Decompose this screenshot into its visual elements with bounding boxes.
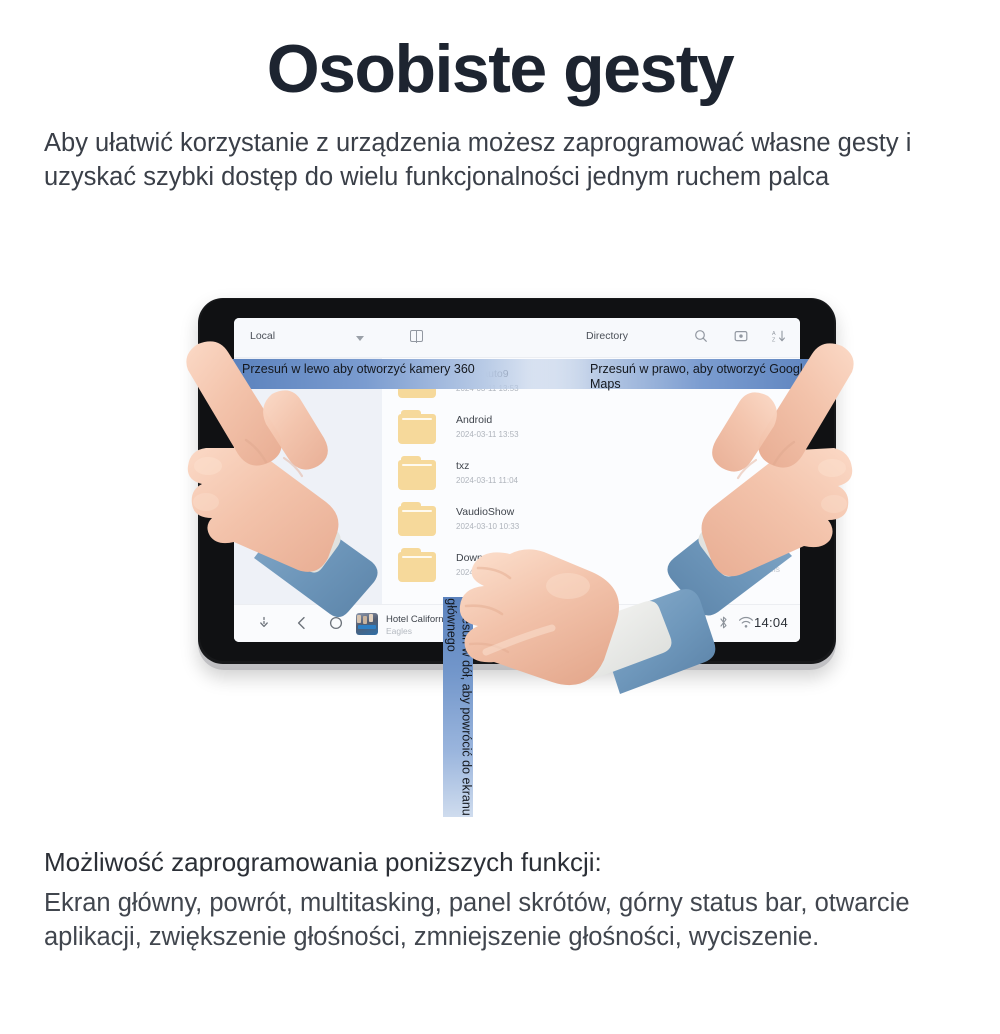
track-artist: Eagles [386,626,412,636]
hand-pointing-left [176,330,386,620]
hand-pointing-down [448,524,718,724]
file-date: 2024-03-11 13:53 [456,430,519,439]
directory-label: Directory [586,330,628,342]
file-name: txz [456,460,469,472]
folder-icon [398,506,436,536]
file-date: 2024-03-11 11:04 [456,476,518,485]
file-name: VaudioShow [456,506,514,518]
footer-heading: Możliwość zaprogramowania poniższych fun… [44,846,984,880]
page-title: Osobiste gesty [0,34,1000,105]
footer-copy: Możliwość zaprogramowania poniższych fun… [44,846,984,955]
poster-page: Osobiste gesty Aby ułatwić korzystanie z… [0,34,1000,1034]
footer-body: Ekran główny, powrót, multitasking, pane… [44,886,984,955]
file-name: Android [456,414,492,426]
page-subtitle: Aby ułatwić korzystanie z urządzenia moż… [44,127,979,195]
folder-icon [398,460,436,490]
folder-icon [398,414,436,444]
split-view-icon[interactable] [410,330,423,342]
track-title: Hotel California [386,614,451,625]
folder-icon [398,552,436,582]
